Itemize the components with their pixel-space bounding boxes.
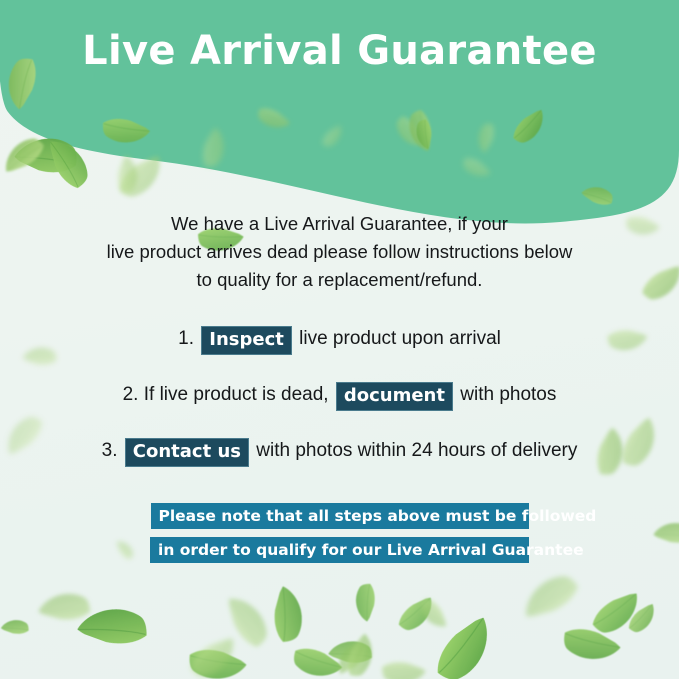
intro-line-2: live product arrives dead please follow … [0, 238, 679, 266]
footer-bar-line-1: Please note that all steps above must be… [151, 503, 529, 529]
step-number: 3. [102, 440, 118, 461]
leaf-icon [37, 584, 95, 626]
step-number: 2. [123, 384, 139, 405]
leaf-icon [184, 637, 243, 679]
intro-line-1: We have a Live Arrival Guarantee, if you… [0, 210, 679, 238]
page-title: Live Arrival Guarantee [0, 28, 679, 74]
step-text-before: If live product is dead, [144, 384, 329, 405]
leaf-icon [286, 638, 344, 679]
leaf-icon [0, 614, 32, 639]
leaf-icon [347, 579, 381, 622]
step-text-after: with photos [460, 384, 556, 405]
leaf-icon [417, 595, 447, 634]
footer-bar-line-2: in order to qualify for our Live Arrival… [150, 537, 529, 563]
intro-line-3: to quality for a replacement/refund. [0, 266, 679, 294]
leaf-icon [556, 618, 623, 676]
leaf-icon [393, 596, 441, 636]
leaf-icon [227, 590, 272, 652]
live-arrival-guarantee-poster: Live Arrival Guarantee We have a Live Ar… [0, 0, 679, 679]
leaf-icon [75, 593, 154, 655]
leaf-icon [339, 632, 385, 679]
step-highlight-contact-us: Contact us [125, 438, 249, 467]
step-highlight-inspect: Inspect [201, 326, 292, 355]
step-number: 1. [178, 328, 194, 349]
leaf-icon [586, 592, 647, 640]
leaf-icon [182, 639, 249, 679]
leaf-icon [424, 615, 507, 679]
leaf-icon [329, 637, 373, 675]
footer-note: Please note that all steps above must be… [0, 503, 679, 563]
leaf-icon [623, 603, 662, 637]
leaf-icon [517, 570, 584, 618]
leaf-icon [327, 631, 377, 670]
step-text-after: live product upon arrival [299, 328, 501, 349]
step-item: 1. Inspect live product upon arrival [0, 322, 679, 356]
step-highlight-document: document [336, 382, 453, 411]
step-item: 2. If live product is dead, document wit… [0, 378, 679, 412]
leaf-icon [267, 585, 312, 647]
leaf-icon [377, 655, 427, 679]
step-item: 3. Contact us with photos within 24 hour… [0, 434, 679, 468]
steps-list: 1. Inspect live product upon arrival 2. … [0, 322, 679, 490]
intro-paragraph: We have a Live Arrival Guarantee, if you… [0, 210, 679, 294]
step-text-after: with photos within 24 hours of delivery [256, 440, 577, 461]
